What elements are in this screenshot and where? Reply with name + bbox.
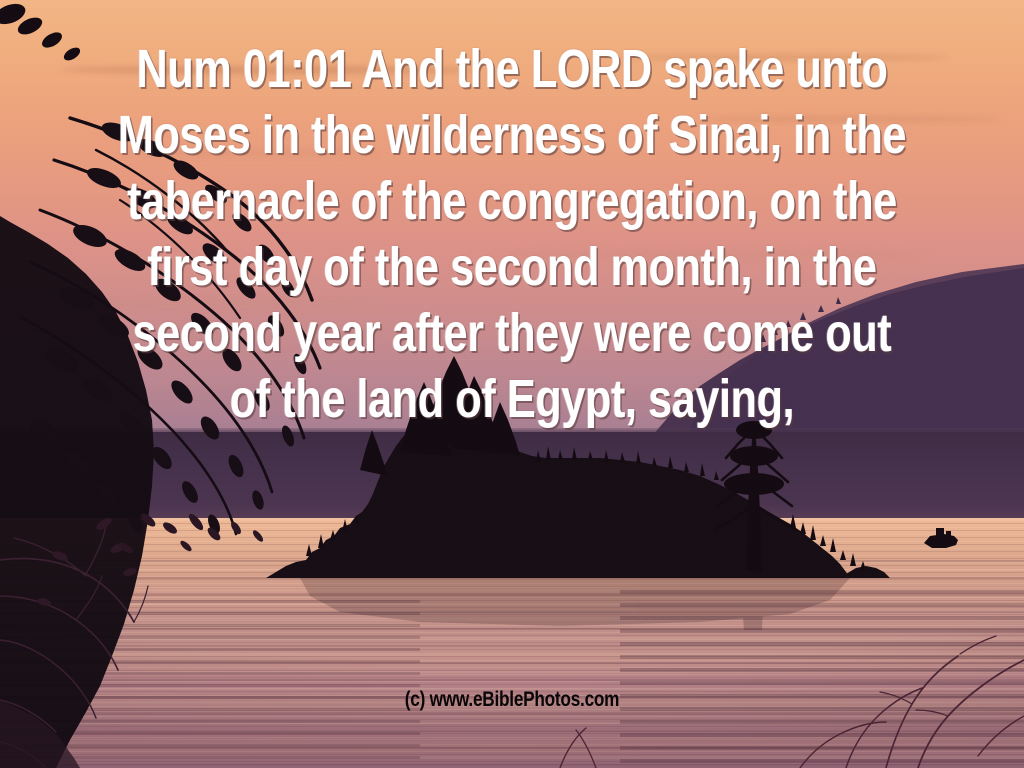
verse-line: second year after they were come out [102,300,921,366]
island-reflection [300,578,850,630]
verse-line: first day of the second month, in the [102,234,921,300]
bare-twig-center [560,728,596,768]
boat-silhouette [924,528,958,548]
verse-line: Moses in the wilderness of Sinai, in the [102,102,921,168]
verse-line: of the land of Egypt, saying, [102,366,921,432]
island-silhouette [266,418,890,578]
copyright-watermark: (c) www.eBiblePhotos.com [92,688,932,712]
verse-line: tabernacle of the congregation, on the [102,168,921,234]
verse-text-overlay: Num 01:01 And the LORD spake unto Moses … [102,36,921,432]
scripture-photo-slide: Num 01:01 And the LORD spake unto Moses … [0,0,1024,768]
verse-line: Num 01:01 And the LORD spake unto [102,36,921,102]
